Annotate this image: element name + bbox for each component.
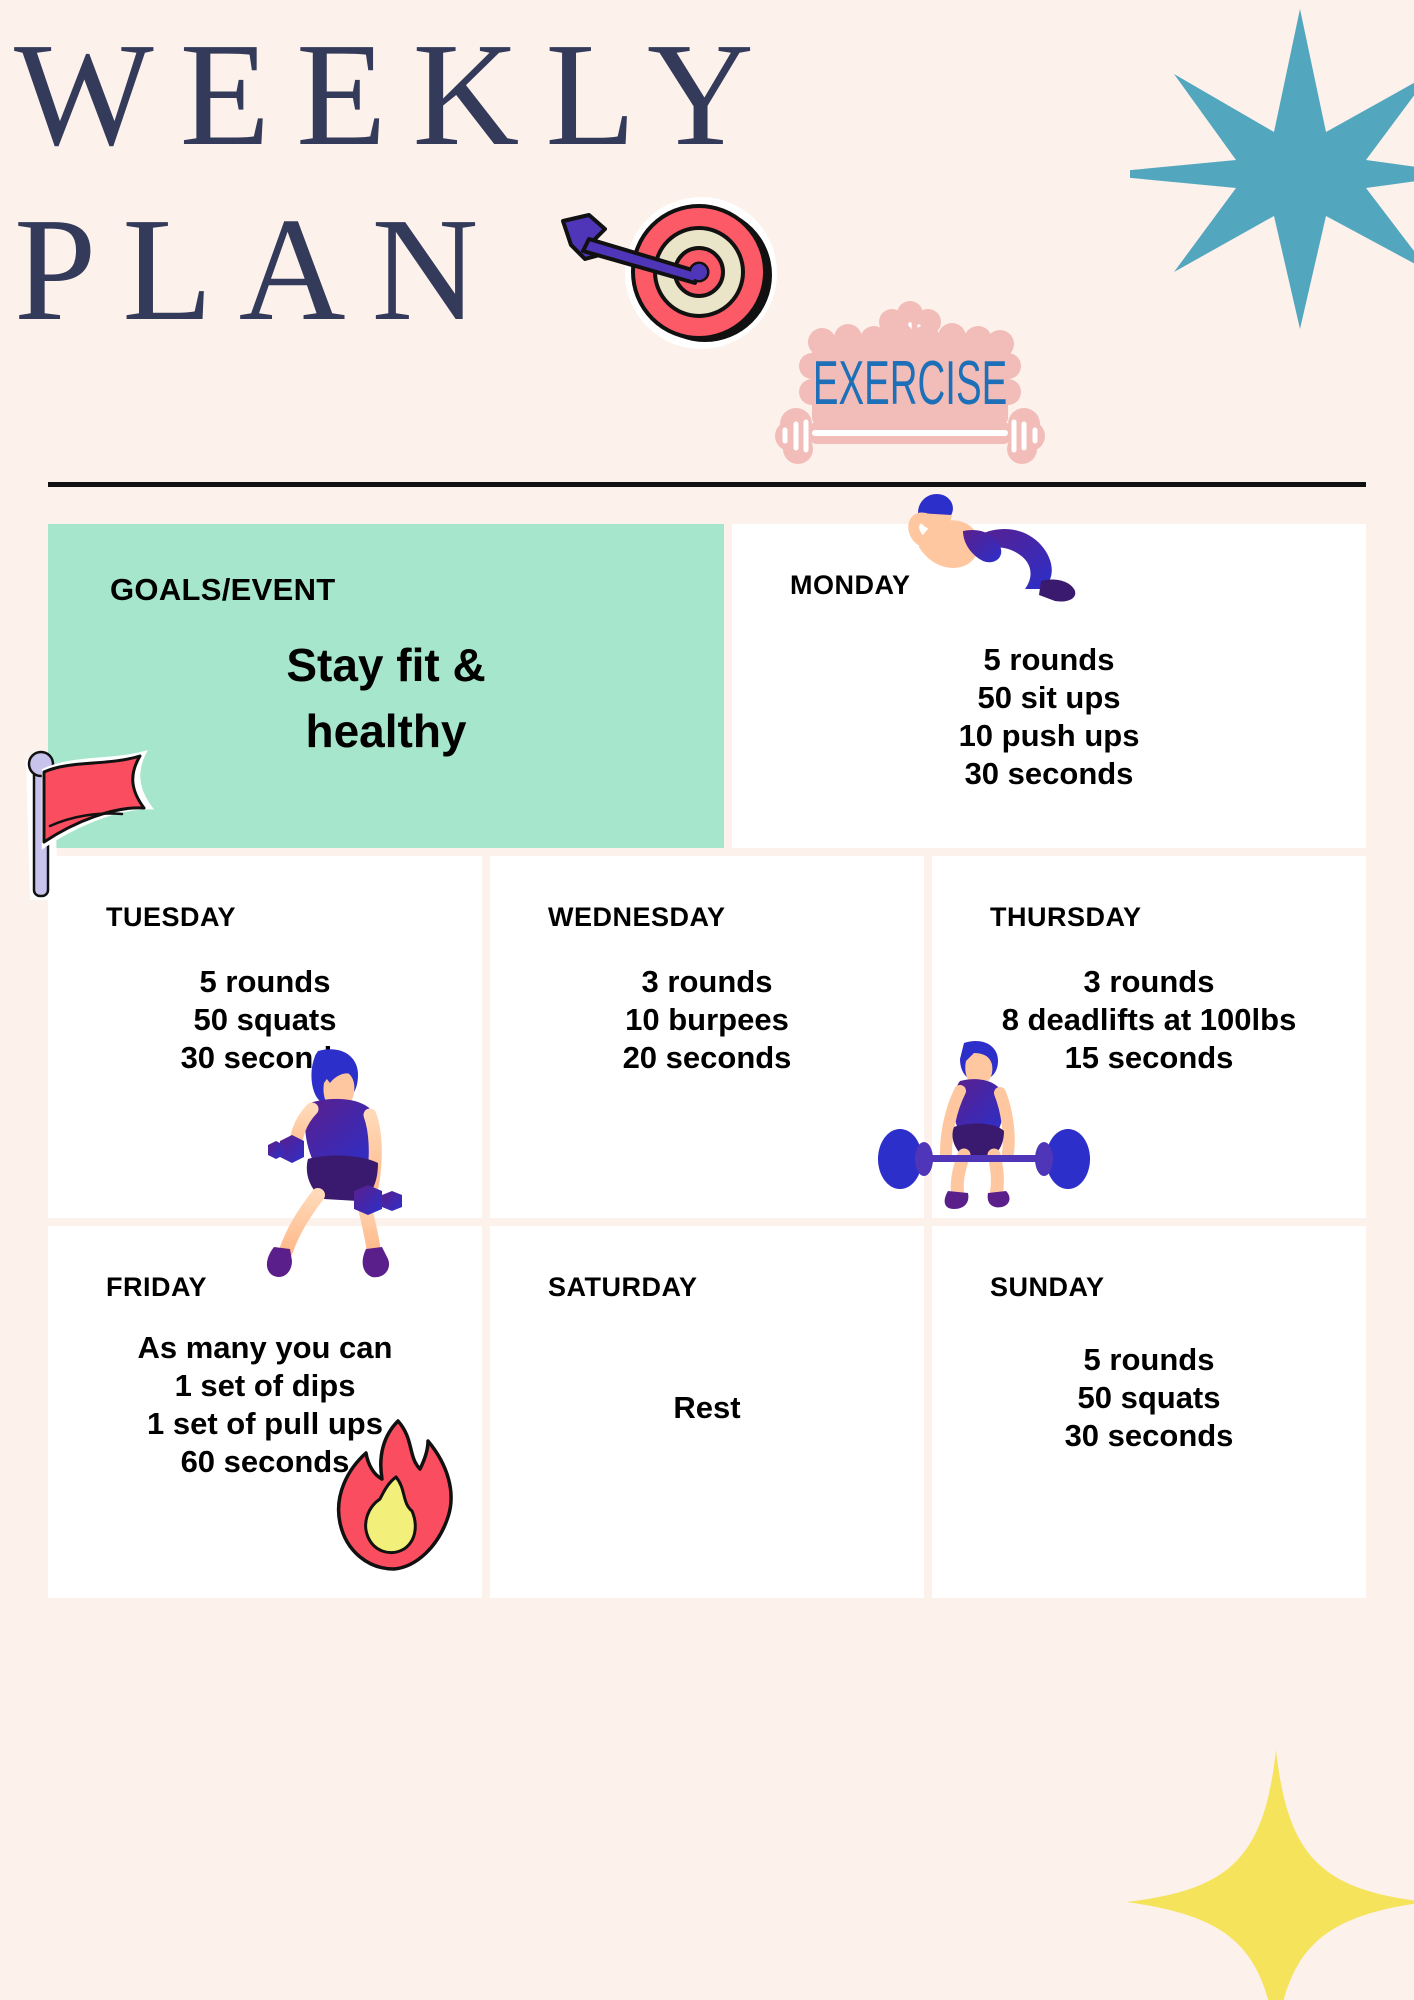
day-label-saturday: SATURDAY [548,1272,904,1303]
teal-star-decoration [1130,4,1414,334]
day-body-tuesday: 5 rounds 50 squats 30 seconds [68,963,462,1077]
saturday-line-1: Rest [510,1389,904,1427]
grid-row-3: FRIDAY As many you can 1 set of dips 1 s… [48,1226,1366,1598]
day-body-thursday: 3 rounds 8 deadlifts at 100lbs 15 second… [952,963,1346,1077]
plan-grid: GOALS/EVENT Stay fit & healthy MONDAY 5 … [48,524,1366,1606]
day-label-friday: FRIDAY [106,1272,462,1303]
thursday-line-3: 15 seconds [952,1039,1346,1077]
day-body-friday: As many you can 1 set of dips 1 set of p… [68,1329,462,1481]
day-label-thursday: THURSDAY [990,902,1346,933]
day-label-wednesday: WEDNESDAY [548,902,904,933]
goals-event-label: GOALS/EVENT [110,572,700,608]
day-card-sunday: SUNDAY 5 rounds 50 squats 30 seconds [932,1226,1366,1598]
tuesday-line-3: 30 seconds [68,1039,462,1077]
day-card-tuesday: TUESDAY 5 rounds 50 squats 30 seconds [48,856,482,1218]
tuesday-line-2: 50 squats [68,1001,462,1039]
page-title: WEEKLY PLAN [14,8,914,358]
day-body-monday: 5 rounds 50 sit ups 10 push ups 30 secon… [752,641,1346,793]
wednesday-line-2: 10 burpees [510,1001,904,1039]
day-label-monday: MONDAY [790,570,1346,601]
friday-line-2: 1 set of dips [68,1367,462,1405]
thursday-line-1: 3 rounds [952,963,1346,1001]
friday-line-3: 1 set of pull ups [68,1405,462,1443]
sunday-line-3: 30 seconds [952,1417,1346,1455]
day-card-monday: MONDAY 5 rounds 50 sit ups 10 push ups 3… [732,524,1366,848]
day-label-tuesday: TUESDAY [106,902,462,933]
friday-line-4: 60 seconds [68,1443,462,1481]
friday-line-1: As many you can [68,1329,462,1367]
day-body-sunday: 5 rounds 50 squats 30 seconds [952,1341,1346,1455]
day-body-saturday: Rest [510,1389,904,1427]
day-label-sunday: SUNDAY [990,1272,1346,1303]
title-line-1: WEEKLY [14,8,914,183]
goals-event-text: Stay fit & healthy [72,632,700,764]
wednesday-line-3: 20 seconds [510,1039,904,1077]
grid-row-1: GOALS/EVENT Stay fit & healthy MONDAY 5 … [48,524,1366,848]
day-body-wednesday: 3 rounds 10 burpees 20 seconds [510,963,904,1077]
monday-line-4: 30 seconds [752,755,1346,793]
wednesday-line-1: 3 rounds [510,963,904,1001]
monday-line-2: 50 sit ups [752,679,1346,717]
day-card-friday: FRIDAY As many you can 1 set of dips 1 s… [48,1226,482,1598]
thursday-line-2: 8 deadlifts at 100lbs [952,1001,1346,1039]
goals-text-line-1: Stay fit & [72,632,700,698]
day-card-wednesday: WEDNESDAY 3 rounds 10 burpees 20 seconds [490,856,924,1218]
weekly-plan-poster: WEEKLY PLAN [0,0,1414,2000]
tuesday-line-1: 5 rounds [68,963,462,1001]
goals-text-line-2: healthy [72,698,700,764]
day-card-thursday: THURSDAY 3 rounds 8 deadlifts at 100lbs … [932,856,1366,1218]
grid-row-2: TUESDAY 5 rounds 50 squats 30 seconds WE… [48,856,1366,1218]
title-line-2: PLAN [14,183,914,358]
yellow-sparkle-decoration [1126,1750,1414,2000]
sunday-line-1: 5 rounds [952,1341,1346,1379]
monday-line-3: 10 push ups [752,717,1346,755]
sunday-line-2: 50 squats [952,1379,1346,1417]
goals-event-card: GOALS/EVENT Stay fit & healthy [48,524,724,848]
monday-line-1: 5 rounds [752,641,1346,679]
day-card-saturday: SATURDAY Rest [490,1226,924,1598]
header-divider [48,482,1366,487]
